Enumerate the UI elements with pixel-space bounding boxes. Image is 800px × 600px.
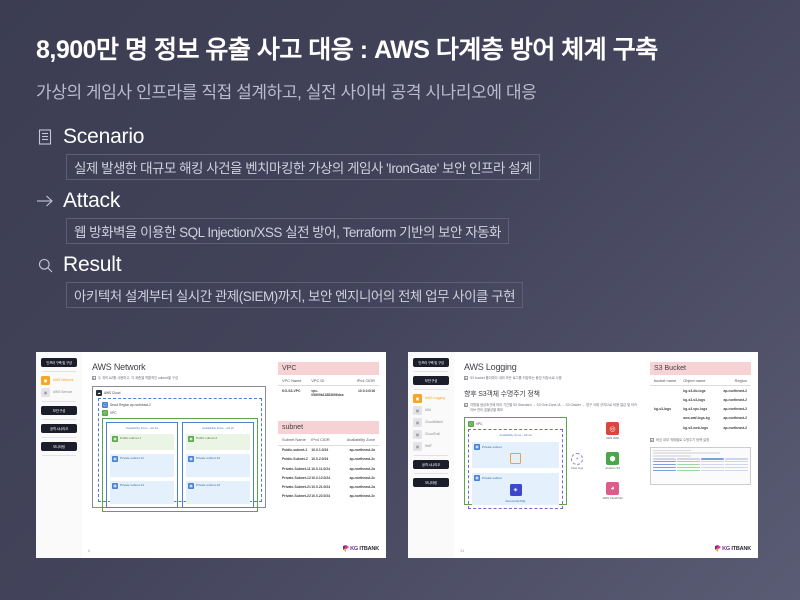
db-label: Aurora MySQL <box>505 499 525 503</box>
sidebar-button-security[interactable]: 보안 구성 <box>41 406 77 415</box>
column-header: bucket name <box>654 378 683 383</box>
flow-logs-node: ✦ Flow logs <box>571 417 583 505</box>
page-title: 8,900만 명 정보 유출 사고 대응 : AWS 다계층 방어 체계 구축 <box>36 30 764 66</box>
cell-region: ap-northeast-2 <box>716 426 747 430</box>
az-title: Availability Zone - AZ 2a <box>472 433 559 437</box>
column-header: Availability Zone <box>344 437 375 442</box>
vpc-box: Availability Zone - AZ 2a ▦ Public subne… <box>102 418 258 512</box>
subnet-private: ▦ Private subnet 11 <box>110 454 174 477</box>
cell-cidr: 10.0.0.0/16 <box>344 389 375 397</box>
page-header: 8,900만 명 정보 유출 사고 대응 : AWS 다계층 방어 체계 구축 … <box>0 0 800 103</box>
region-container: ◱ Seoul Region ap-northeast-2 ◰ VPC Avai… <box>98 398 262 502</box>
cell-object-name: kg-s3-vpc-logs <box>683 407 716 411</box>
sidebar-button-attack-scenario[interactable]: 공격 시나리오 <box>41 424 77 433</box>
table-header-row: VPC Name VPC ID IPv4 CIDR <box>278 375 379 386</box>
section-title: Scenario <box>63 125 144 149</box>
az-title: Availability Zone - AZ 2a <box>110 426 174 430</box>
sidebar-item-label: WAF <box>425 444 432 448</box>
cell-object-name: kg-s3-s3-logs <box>683 398 716 402</box>
cell-az: ap-northeast-2c <box>344 476 375 480</box>
subnet-icon: ▦ <box>188 456 194 462</box>
cell-cidr: 10.0.11.0/24 <box>311 467 344 471</box>
column-header: VPC Name <box>282 378 311 383</box>
column-header: IPv4 CIDR <box>344 378 375 383</box>
sidebar-item-label: IAM <box>425 408 431 412</box>
subnet-label: Public subnet 2 <box>196 436 217 440</box>
table-row: Private-Subnet-12 10.0.12.0/24 ap-northe… <box>278 473 379 482</box>
sidebar-button-monitoring[interactable]: 모니터링 <box>413 478 449 487</box>
sidebar-item-cloudtrail[interactable]: ▣ CloudTrail <box>413 430 449 439</box>
table-row: Private-Subnet-11 10.0.11.0/24 ap-northe… <box>278 464 379 473</box>
sidebar-item-aws-logging[interactable]: ▣ AWS Logging <box>413 394 449 403</box>
sidebar-item-label: AWS Logging <box>425 396 445 400</box>
table-header-row: Subnet Name IPv4 CIDR Availability Zone <box>278 434 379 445</box>
cell-object-name: kg-s3-web-logs <box>683 426 716 430</box>
subnet-label: Private subnet 21 <box>120 483 144 487</box>
subnet-label: Private subnet <box>482 445 502 449</box>
service-label: AWS CloudTrail <box>603 496 623 500</box>
slide-sidebar: 인프라 구축 및 구성 ▣ AWS Network ▣ AWS Service … <box>36 352 82 558</box>
cell-subnet-name: Private-Subnet-22 <box>282 494 311 498</box>
arrow-right-icon <box>36 192 54 210</box>
slide-tables: S3 Bucket bucket name Object name Region… <box>646 352 758 558</box>
subnet-icon: ▦ <box>474 444 480 450</box>
logo-itbank-text: ITBANK <box>731 546 751 552</box>
subnet-label: Private subnet 12 <box>196 456 220 460</box>
service-label: AWS WAF <box>606 436 619 440</box>
table-row: kg-s3-s3-logs ap-northeast-2 <box>650 395 751 404</box>
kg-itbank-logo: KG ITBANK <box>715 545 751 552</box>
slide-thumbnail-aws-logging[interactable]: 인프라 구축 및 구성 보안 구성 ▣ AWS Logging ▣ IAM ▣ … <box>408 352 758 558</box>
amazon-s3-icon: ⬢ <box>606 452 619 465</box>
sidebar-top-button[interactable]: 인프라 구축 및 구성 <box>413 358 449 367</box>
sidebar-item-cloudwatch[interactable]: ▣ CloudWatch <box>413 418 449 427</box>
section-description: 실제 발생한 대규모 해킹 사건을 벤치마킹한 가상의 게임사 'IronGat… <box>66 154 540 180</box>
subnet-label: Private subnet <box>482 476 502 480</box>
cell-cidr: 10.0.2.0/24 <box>311 457 344 461</box>
search-icon <box>36 256 54 274</box>
document-icon <box>36 128 54 146</box>
sidebar-item-iam[interactable]: ▣ IAM <box>413 406 449 415</box>
subnet-icon: ▦ <box>474 475 480 481</box>
cell-object-name: aws-waf-logs-kg <box>683 416 716 420</box>
section-attack: Attack 웹 방화벽을 이용한 SQL Injection/XSS 실전 방… <box>36 189 764 244</box>
logging-icon: ▣ <box>413 394 422 403</box>
cell-subnet-name: Private-Subnet-11 <box>282 467 311 471</box>
aws-cloud-icon: ☁ <box>96 390 102 396</box>
flow-logs-label: Flow logs <box>571 466 583 470</box>
flow-logs-icon: ✦ <box>571 453 583 465</box>
bullet-icon: ▸ <box>464 376 468 380</box>
cell-az: ap-northeast-2a <box>344 448 375 452</box>
slide-heading: AWS Logging <box>464 362 638 372</box>
availability-zone-2a: Availability Zone - AZ 2a ▦ Public subne… <box>106 422 178 508</box>
table-row: kg-s3-db-logs ap-northeast-2 <box>650 386 751 395</box>
subnet-private: ▦ Private subnet 12 <box>186 454 250 477</box>
cell-subnet-name: Public-subnet-1 <box>282 448 311 452</box>
slide-thumbnail-aws-network[interactable]: 인프라 구축 및 구성 ▣ AWS Network ▣ AWS Service … <box>36 352 386 558</box>
region-icon: ◱ <box>102 402 108 408</box>
az-title: Availability Zone - AZ 2c <box>186 426 250 430</box>
cell-bucket-name: kg-s3-logs <box>654 407 683 411</box>
subnet-icon: ▦ <box>188 436 194 442</box>
cell-vpc-name: KG-S3-VPC <box>282 389 311 397</box>
s3-bucket-table-title: S3 Bucket <box>650 362 751 375</box>
waf-icon: ▣ <box>413 442 422 451</box>
page-subtitle: 가상의 게임사 인프라를 직접 설계하고, 실전 사이버 공격 시나리오에 대응 <box>36 78 764 103</box>
console-screenshot <box>650 447 751 485</box>
table-header-row: bucket name Object name Region <box>650 375 751 386</box>
region-label: Seoul Region ap-northeast-2 <box>110 403 151 407</box>
bullet-icon: ▸ <box>92 376 96 380</box>
cell-az: ap-northeast-2c <box>344 457 375 461</box>
column-header: IPv4 CIDR <box>311 437 344 442</box>
logo-mark-icon <box>715 545 721 552</box>
slide-heading: AWS Network <box>92 362 266 372</box>
logo-kg-text: KG <box>350 546 358 552</box>
subnet-private: ▦ Private subnet 21 <box>110 481 174 504</box>
subnet-table-title: subnet <box>278 421 379 434</box>
cell-region: ap-northeast-2 <box>716 398 747 402</box>
cell-subnet-name: Private-Subnet-21 <box>282 485 311 489</box>
subnet-private: ▦ Private subnet 22 <box>186 481 250 504</box>
aws-services-column: ◎ AWS WAF ⬢ Amazon S3 ◕ AWS CloudTrail <box>587 417 638 505</box>
subnet-icon: ▦ <box>112 483 118 489</box>
logo-kg-text: KG <box>722 546 730 552</box>
app-instance-icon <box>510 453 521 464</box>
sidebar-top-button[interactable]: 인프라 구축 및 구성 <box>41 358 77 367</box>
cell-cidr: 10.0.22.0/24 <box>311 494 344 498</box>
caption-text: 버킷 내부 객체별로 수명주기 정책 설정 <box>656 438 709 442</box>
slide-note-2: ▸ 자원별 생성조건에 따라 기간별 S3 Standard → S3 One-… <box>464 403 638 412</box>
subnet-icon: ▦ <box>112 436 118 442</box>
private-subnet-db: ▦ Private subnet ◈ Aurora MySQL <box>472 473 559 505</box>
column-header: Subnet Name <box>282 437 311 442</box>
table-row: Public-subnet-1 10.0.1.0/24 ap-northeast… <box>278 446 379 455</box>
section-scenario: Scenario 실제 발생한 대규모 해킹 사건을 벤치마킹한 가상의 게임사… <box>36 125 764 180</box>
cell-region: ap-northeast-2 <box>716 416 747 420</box>
cloudwatch-icon: ▣ <box>413 418 422 427</box>
table-row: kg-s3-logs kg-s3-vpc-logs ap-northeast-2 <box>650 405 751 414</box>
cloudtrail-icon: ▣ <box>413 430 422 439</box>
aws-network-diagram: ☁ AWS Cloud ◱ Seoul Region ap-northeast-… <box>92 386 266 508</box>
table-row: kg-s3-web-logs ap-northeast-2 <box>650 423 751 432</box>
network-icon: ▣ <box>41 376 50 385</box>
table-row: aws-waf-logs-kg ap-northeast-2 <box>650 414 751 423</box>
table-row: Public-Subnet-2 10.0.2.0/24 ap-northeast… <box>278 455 379 464</box>
region-label-row: ◱ Seoul Region ap-northeast-2 <box>102 402 258 408</box>
vpc-container: ◰ VPC Availability Zone - AZ 2a ▦ Privat… <box>464 417 567 505</box>
column-header: Region <box>716 378 747 383</box>
sidebar-item-label: CloudTrail <box>425 432 440 436</box>
table-caption: ▸ 버킷 내부 객체별로 수명주기 정책 설정 <box>650 438 751 442</box>
private-subnet-app: ▦ Private subnet <box>472 442 559 468</box>
bullet-icon: ▸ <box>650 438 654 442</box>
cell-cidr: 10.0.1.0/24 <box>311 448 344 452</box>
cell-az: ap-northeast-2a <box>344 485 375 489</box>
cell-az: ap-northeast-2c <box>344 494 375 498</box>
sidebar-item-aws-service[interactable]: ▣ AWS Service <box>41 388 77 397</box>
vpc-label: VPC <box>476 422 483 426</box>
column-header: Object name <box>683 378 716 383</box>
sidebar-item-label: AWS Network <box>53 378 73 382</box>
cell-region: ap-northeast-2 <box>716 389 747 393</box>
sidebar-item-aws-network[interactable]: ▣ AWS Network <box>41 376 77 385</box>
section-title: Result <box>63 253 121 277</box>
section-description: 웹 방화벽을 이용한 SQL Injection/XSS 실전 방어, Terr… <box>66 218 509 244</box>
cell-cidr: 10.0.12.0/24 <box>311 476 344 480</box>
bullet-icon: ▸ <box>464 403 468 407</box>
kg-itbank-logo: KG ITBANK <box>343 545 379 552</box>
table-row: Private-Subnet-22 10.0.22.0/24 ap-northe… <box>278 492 379 501</box>
vpc-label-row: ◰ VPC <box>102 410 258 416</box>
slide-main-content: AWS Network ▸ 두 개의 AZ를 사용하고, 각 계층별 역할적인 … <box>82 352 274 558</box>
section-title: Attack <box>63 189 120 213</box>
sidebar-item-waf[interactable]: ▣ WAF <box>413 442 449 451</box>
cell-cidr: 10.0.21.0/24 <box>311 485 344 489</box>
section-result: Result 아키텍처 설계부터 실시간 관제(SIEM)까지, 보안 엔지니어… <box>36 253 764 308</box>
slide-note2-text: 자원별 생성조건에 따라 기간별 S3 Standard → S3 One-Zo… <box>470 403 638 412</box>
vpc-label-row: ◰ VPC <box>468 421 563 427</box>
vpc-label: VPC <box>110 411 117 415</box>
column-header: VPC ID <box>311 378 344 383</box>
subnet-icon: ▦ <box>188 483 194 489</box>
service-aws-cloudtrail: ◕ AWS CloudTrail <box>603 482 623 500</box>
cell-subnet-name: Public-Subnet-2 <box>282 457 311 461</box>
slide-sidebar: 인프라 구축 및 구성 보안 구성 ▣ AWS Logging ▣ IAM ▣ … <box>408 352 454 558</box>
sidebar-button-attack-scenario[interactable]: 공격 시나리오 <box>413 460 449 469</box>
service-amazon-s3: ⬢ Amazon S3 <box>605 452 619 470</box>
vpc-icon: ◰ <box>468 421 474 427</box>
subnet-label: Private subnet 22 <box>196 483 220 487</box>
logo-itbank-text: ITBANK <box>359 546 379 552</box>
subnet-label: Private subnet 11 <box>120 456 144 460</box>
table-row: Private-Subnet-21 10.0.21.0/24 ap-northe… <box>278 482 379 491</box>
iam-icon: ▣ <box>413 406 422 415</box>
slide-subheading: 향후 S3객체 수명주기 정책 <box>464 389 638 399</box>
vpc-icon: ◰ <box>102 410 108 416</box>
cloud-label-row: ☁ AWS Cloud <box>96 390 262 396</box>
cell-vpc-id: vpc-09809b11883698dca <box>311 389 344 397</box>
availability-zone-2c: Availability Zone - AZ 2c ▦ Public subne… <box>182 422 254 508</box>
aws-cloudtrail-icon: ◕ <box>606 482 619 495</box>
cell-subnet-name: Private-Subnet-12 <box>282 476 311 480</box>
availability-zone: Availability Zone - AZ 2a ▦ Private subn… <box>468 429 563 509</box>
cloud-label: AWS Cloud <box>104 391 120 395</box>
slide-note-text: S3 bucket 폴더마다 내외 모든 로그를 저장하는 중앙 저장소로 사용 <box>470 376 562 380</box>
sidebar-item-label: CloudWatch <box>425 420 443 424</box>
cell-az: ap-northeast-2a <box>344 467 375 471</box>
service-icon: ▣ <box>41 388 50 397</box>
subnet-public: ▦ Public subnet 1 <box>110 434 174 450</box>
subnet-label: Public subnet 1 <box>120 436 141 440</box>
slide-note: ▸ 두 개의 AZ를 사용하고, 각 계층별 역할적인 subnet을 구성 <box>92 376 266 380</box>
cell-object-name: kg-s3-db-logs <box>683 389 716 393</box>
slide-page-number: 6 <box>88 548 90 553</box>
sidebar-button-security[interactable]: 보안 구성 <box>413 376 449 385</box>
slide-page-number: 14 <box>460 548 464 553</box>
slide-thumbnails: 인프라 구축 및 구성 ▣ AWS Network ▣ AWS Service … <box>36 352 758 558</box>
slide-tables: VPC VPC Name VPC ID IPv4 CIDR KG-S3-VPC … <box>274 352 386 558</box>
subnet-public: ▦ Public subnet 2 <box>186 434 250 450</box>
service-label: Amazon S3 <box>605 466 619 470</box>
service-aws-waf: ◎ AWS WAF <box>606 422 619 440</box>
logo-mark-icon <box>343 545 349 552</box>
summary-sections: Scenario 실제 발생한 대규모 해킹 사건을 벤치마킹한 가상의 게임사… <box>0 103 800 308</box>
vpc-table-title: VPC <box>278 362 379 375</box>
aws-logging-diagram: ◰ VPC Availability Zone - AZ 2a ▦ Privat… <box>464 417 638 505</box>
cell-region: ap-northeast-2 <box>716 407 747 411</box>
aws-waf-icon: ◎ <box>606 422 619 435</box>
subnet-icon: ▦ <box>112 456 118 462</box>
aurora-mysql-icon: ◈ <box>510 484 522 496</box>
slide-main-content: AWS Logging ▸ S3 bucket 폴더마다 내외 모든 로그를 저… <box>454 352 646 558</box>
sidebar-item-label: AWS Service <box>53 390 72 394</box>
table-row: KG-S3-VPC vpc-09809b11883698dca 10.0.0.0… <box>278 386 379 399</box>
slide-note-text: 두 개의 AZ를 사용하고, 각 계층별 역할적인 subnet을 구성 <box>98 376 178 380</box>
slide-note: ▸ S3 bucket 폴더마다 내외 모든 로그를 저장하는 중앙 저장소로 … <box>464 376 638 380</box>
section-description: 아키텍처 설계부터 실시간 관제(SIEM)까지, 보안 엔지니어의 전체 업무… <box>66 282 523 308</box>
sidebar-button-monitoring[interactable]: 보니터링 <box>41 442 77 451</box>
